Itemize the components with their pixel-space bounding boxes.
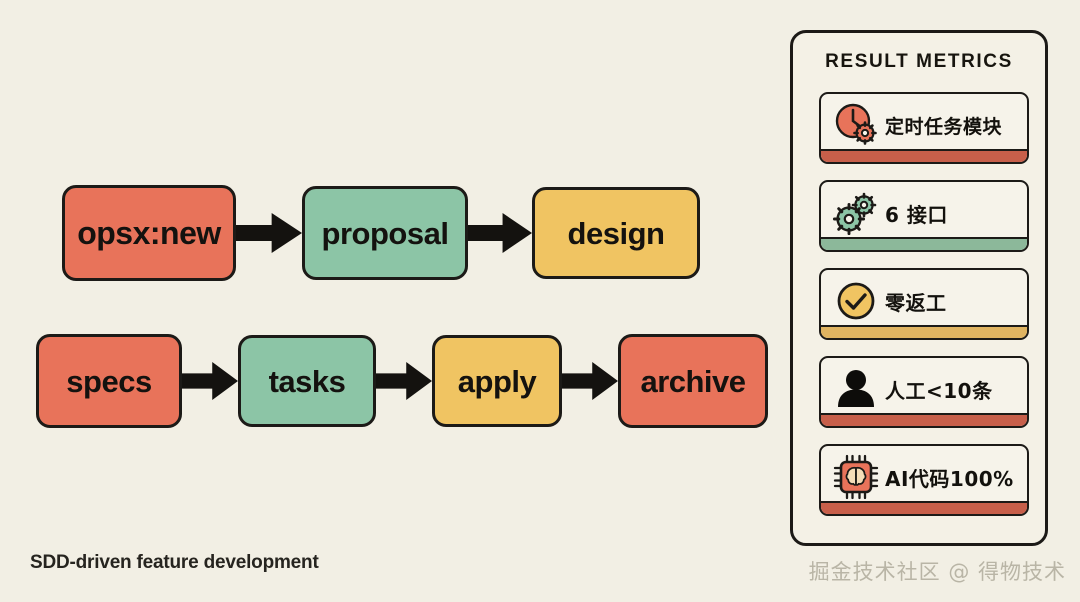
flow-row-1: opsx:new proposal design (62, 185, 700, 281)
metric-card[interactable]: 零返工 (819, 268, 1029, 340)
canvas: opsx:new proposal designspecs tasks appl… (0, 0, 1080, 602)
flow-arrow-right-icon (376, 362, 432, 400)
metric-card-label: 定时任务模块 (885, 112, 1027, 139)
metric-card[interactable]: 人工<10条 (819, 356, 1029, 428)
metric-card[interactable]: AI代码100% (819, 444, 1029, 516)
metric-card[interactable]: 6 接口 (819, 180, 1029, 252)
person-icon (829, 362, 883, 416)
ai-chip-icon (829, 450, 883, 504)
flow-arrow-right-icon (236, 213, 302, 253)
watermark-text: 掘金技术社区 @ 得物技术 (809, 556, 1066, 586)
metric-card-accent-bar (821, 237, 1027, 250)
metric-card-accent-bar (821, 413, 1027, 426)
metric-card-accent-bar (821, 501, 1027, 514)
result-metrics-title: RESULT METRICS (793, 51, 1045, 73)
clock-gear-icon (829, 98, 883, 152)
flow-step-opsx-new[interactable]: opsx:new (62, 185, 236, 281)
metric-card-accent-bar (821, 149, 1027, 162)
flow-step-archive[interactable]: archive (618, 334, 768, 428)
flow-arrow-right-icon (468, 213, 532, 253)
metric-card-label: 6 接口 (885, 199, 1027, 228)
flow-step-specs[interactable]: specs (36, 334, 182, 428)
metric-card-label: 零返工 (885, 287, 1027, 316)
metric-card[interactable]: 定时任务模块 (819, 92, 1029, 164)
check-circle-icon (829, 274, 883, 328)
metric-card-label: 人工<10条 (885, 375, 1027, 404)
flow-step-proposal[interactable]: proposal (302, 186, 468, 280)
flow-arrow-right-icon (182, 362, 238, 400)
diagram-caption: SDD-driven feature development (30, 552, 319, 574)
metrics-card-list: 定时任务模块 (819, 92, 1029, 532)
metric-card-accent-bar (821, 325, 1027, 338)
flow-arrow-right-icon (562, 362, 618, 400)
gears-icon (829, 186, 883, 240)
flow-row-2: specs tasks apply archive (36, 334, 768, 428)
flow-step-design[interactable]: design (532, 187, 700, 279)
flow-step-tasks[interactable]: tasks (238, 335, 376, 427)
result-metrics-panel: RESULT METRICS 定时任务模块 (790, 30, 1048, 546)
metric-card-label: AI代码100% (885, 463, 1027, 492)
flow-step-apply[interactable]: apply (432, 335, 562, 427)
